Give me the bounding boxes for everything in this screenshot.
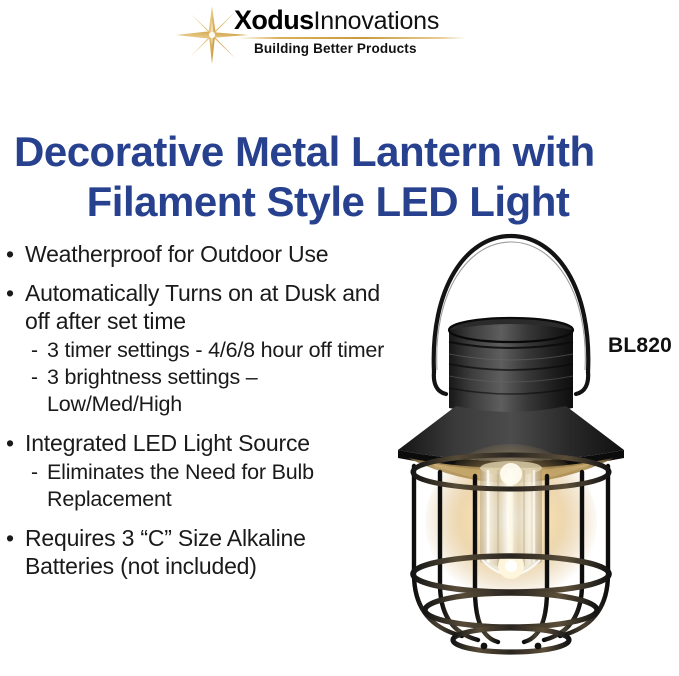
list-item: • Requires 3 “C” Size Alkaline Batteries… (6, 524, 386, 580)
logo-brand-secondary: Innovations (314, 7, 440, 35)
list-item: - 3 brightness settings – Low/Med/High (31, 364, 386, 418)
feature-subitem-text: 3 timer settings - 4/6/8 hour off timer (47, 337, 386, 364)
logo-divider-rule (238, 37, 466, 39)
feature-subitem-list: - Eliminates the Need for Bulb Replaceme… (31, 459, 386, 513)
list-item: - Eliminates the Need for Bulb Replaceme… (31, 459, 386, 513)
feature-list: • Weatherproof for Outdoor Use • Automat… (6, 240, 386, 591)
metal-lantern-photo (378, 222, 644, 662)
page-title-line-1: Decorative Metal Lantern with (14, 127, 664, 177)
feature-subitem-list: - 3 timer settings - 4/6/8 hour off time… (31, 337, 386, 418)
list-item: • Integrated LED Light Source - Eliminat… (6, 429, 386, 513)
brand-logo: XodusInnovations Building Better Product… (176, 4, 476, 66)
dash-icon: - (31, 459, 47, 486)
feature-text: Requires 3 “C” Size Alkaline Batteries (… (25, 524, 386, 580)
feature-text: Automatically Turns on at Dusk and off a… (25, 279, 386, 335)
feature-text: Integrated LED Light Source (25, 429, 386, 457)
list-item: • Automatically Turns on at Dusk and off… (6, 279, 386, 418)
bullet-icon: • (6, 240, 25, 268)
dash-icon: - (31, 364, 47, 391)
logo-wordmark: XodusInnovations (234, 7, 439, 34)
dash-icon: - (31, 337, 47, 364)
page-title: Decorative Metal Lantern with Filament S… (14, 127, 664, 227)
feature-subitem-text: 3 brightness settings – Low/Med/High (47, 364, 386, 418)
bullet-icon: • (6, 429, 25, 457)
list-item: • Weatherproof for Outdoor Use (6, 240, 386, 268)
feature-text: Weatherproof for Outdoor Use (25, 240, 328, 268)
bullet-icon: • (6, 279, 25, 307)
lantern-cap (449, 318, 573, 414)
feature-subitem-text: Eliminates the Need for Bulb Replacement (47, 459, 386, 513)
bullet-icon: • (6, 524, 25, 552)
logo-brand-primary: Xodus (234, 5, 314, 35)
page-title-line-2: Filament Style LED Light (14, 177, 642, 227)
list-item: - 3 timer settings - 4/6/8 hour off time… (31, 337, 386, 364)
logo-tagline: Building Better Products (254, 41, 417, 56)
